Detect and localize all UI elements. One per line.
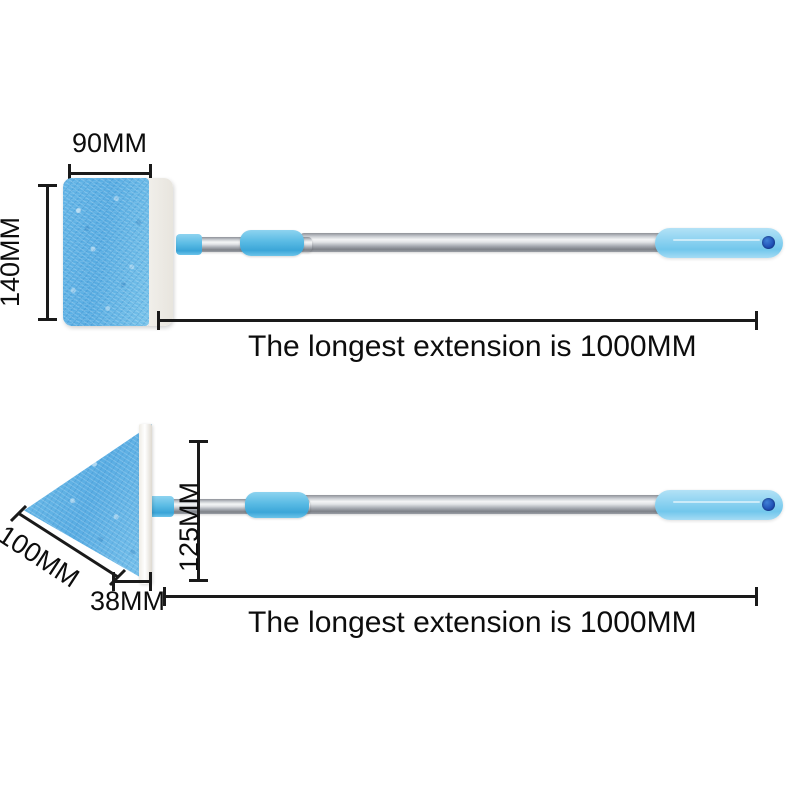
caption-tri-longest-extension: The longest extension is 1000MM	[248, 608, 697, 638]
dimension-line-tri-base	[112, 580, 152, 583]
product-dimension-diagram: 90MM 140MM The longest extension is 1000…	[0, 0, 800, 800]
product-triangular-head-brush: 100MM 38MM 125MM The longest extension i…	[0, 0, 800, 800]
sponge-backing-tri	[139, 424, 152, 584]
dimension-tick-tri-length-left	[163, 587, 166, 606]
dimension-label-tri-base: 38MM	[90, 588, 165, 615]
pole-outer-section-tri	[300, 495, 665, 514]
dimension-label-tri-height: 125MM	[176, 482, 203, 572]
dimension-tick-tri-height-top	[189, 440, 208, 443]
dimension-line-tri-length	[163, 595, 758, 598]
pole-collar-tri	[245, 492, 309, 518]
dimension-tick-tri-length-right	[755, 587, 758, 606]
grip-hang-hole-tri	[762, 498, 775, 511]
dimension-tick-tri-height-bottom	[189, 579, 208, 582]
